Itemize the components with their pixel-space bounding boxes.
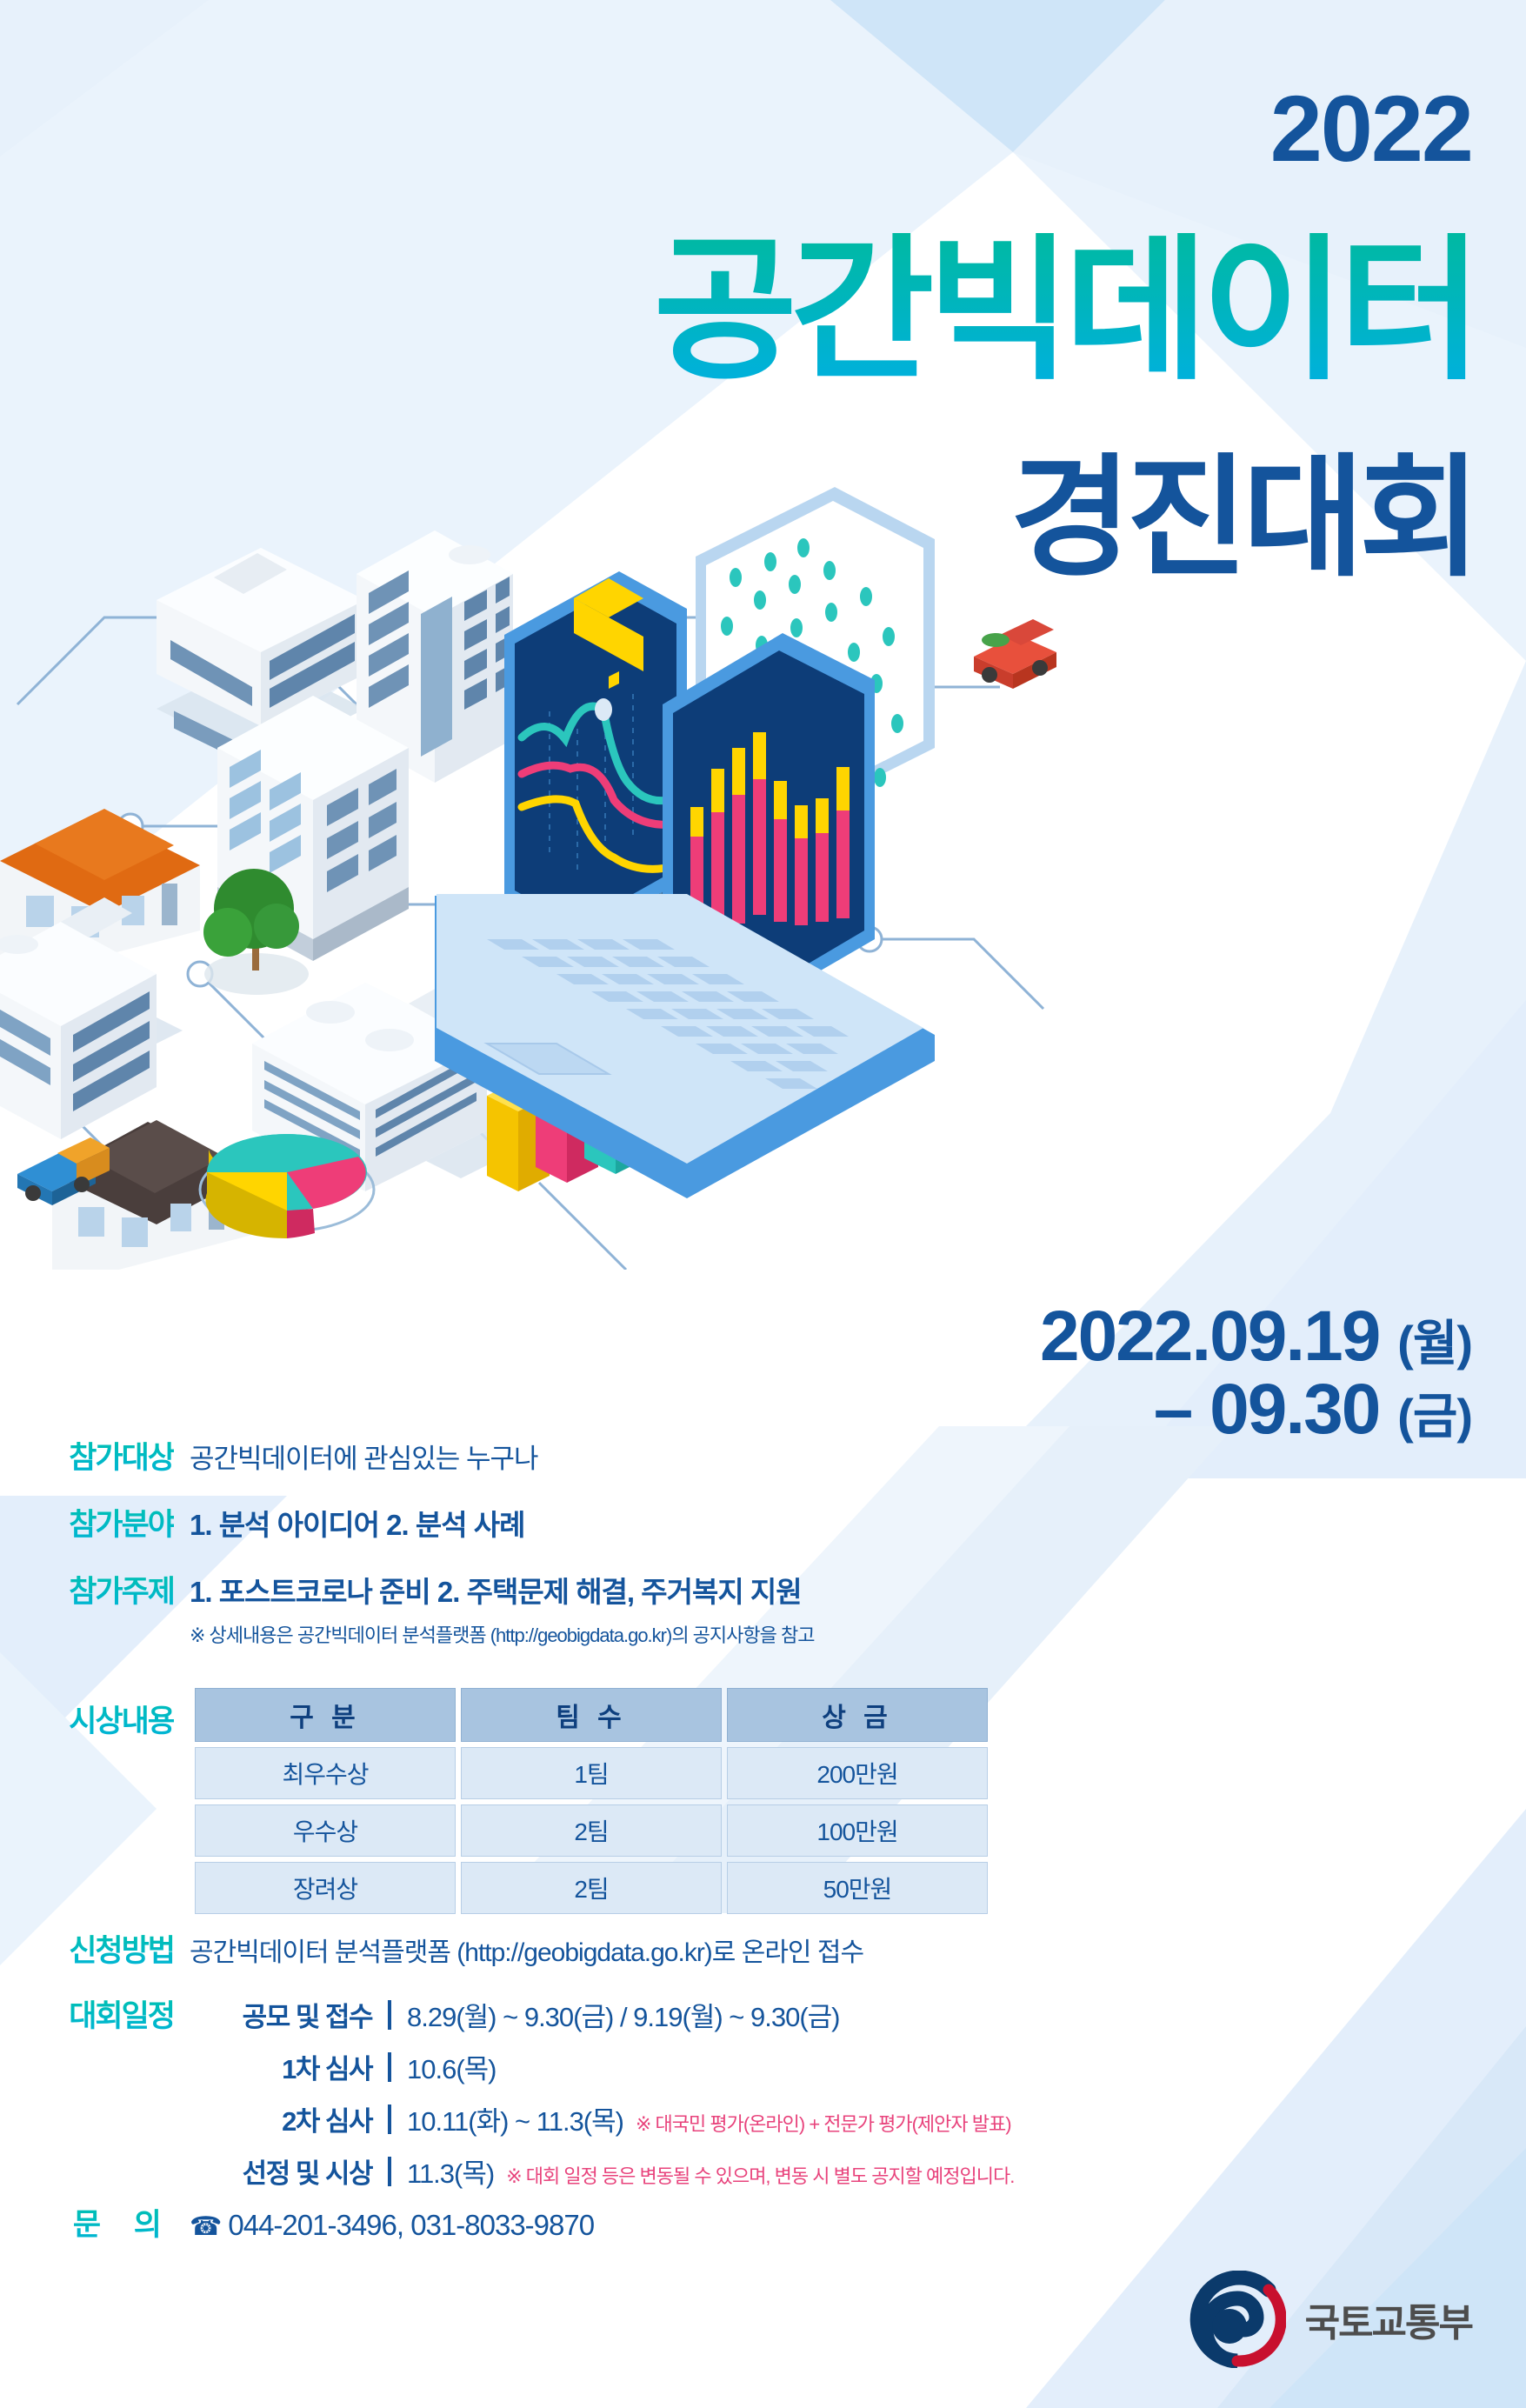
prize-table: 구 분 팀 수 상 금 최우수상 1팀 200만원 우수상 2팀 100만원 장… [190,1683,993,1919]
date-start-dow: (월) [1397,1316,1472,1371]
cell-category: 최우수상 [195,1747,456,1799]
label-apply-method: 신청방법 [0,1926,174,1971]
schedule-row: 1차 심사 10.6(목) [190,2047,1014,2086]
schedule-row: 2차 심사 10.11(화) ~ 11.3(목) ※ 대국민 평가(온라인) +… [190,2099,1014,2138]
value-participation-field: 1. 분석 아이디어 2. 분석 사례 [190,1502,525,1544]
schedule-header: 대회일정 공모 및 접수 8.29(월) ~ 9.30(금) / 9.19(월)… [0,1991,1526,2204]
label-schedule: 대회일정 [0,1991,174,2036]
contact-section: 문 의 ☎044-201-3496, 031-8033-9870 [0,2200,1526,2245]
value-apply-method: 공간빅데이터 분석플랫폼 (http://geobigdata.go.kr)로 … [190,1931,863,1969]
schedule-value: 10.6(목) [407,2047,496,2086]
poster-root: 2022 공간빅데이터 경진대회 [0,0,1526,2408]
event-date-start: 2022.09.19 (월) [1040,1300,1472,1373]
info-row-apply: 신청방법 공간빅데이터 분석플랫폼 (http://geobigdata.go.… [0,1926,1526,1971]
schedule-divider [388,2157,391,2186]
ministry-logo-block: 국토교통부 [1189,2271,1472,2368]
schedule-key: 2차 심사 [190,2099,372,2138]
column-header-amount: 상 금 [727,1688,988,1742]
illustration-svg [0,487,1078,1270]
label-contact: 문 의 [0,2200,174,2245]
participation-info: 참가대상 공간빅데이터에 관심있는 누구나 참가분야 1. 분석 아이디어 2.… [0,1433,1526,1667]
phone-icon: ☎ [190,2212,221,2241]
schedule-key: 공모 및 접수 [190,1995,372,2034]
value-participation-target: 공간빅데이터에 관심있는 누구나 [190,1437,538,1476]
taegeuk-swirl-icon [1189,2271,1286,2368]
value-participation-topic: 1. 포스트코로나 준비 2. 주택문제 해결, 주거복지 지원 [190,1569,802,1611]
year-heading: 2022 [1270,82,1472,176]
date-start-value: 2022.09.19 [1040,1297,1379,1376]
ministry-name: 국토교통부 [1305,2291,1472,2347]
label-participation-field: 참가분야 [0,1500,174,1544]
schedule-key: 선정 및 시상 [190,2151,372,2191]
cell-category: 장려상 [195,1862,456,1914]
info-row-field: 참가분야 1. 분석 아이디어 2. 분석 사례 [0,1500,1526,1544]
label-prize: 시상내용 [0,1683,174,1741]
contact-value-wrap: ☎044-201-3496, 031-8033-9870 [190,2209,594,2242]
smart-city-illustration [0,487,1078,1270]
cell-teams: 2팀 [461,1804,722,1857]
schedule-value: 8.29(월) ~ 9.30(금) / 9.19(월) ~ 9.30(금) [407,1995,840,2034]
table-row: 최우수상 1팀 200만원 [195,1747,988,1799]
cell-teams: 2팀 [461,1862,722,1914]
page-title: 공간빅데이터 [653,233,1476,390]
screen-line-chart [504,571,687,943]
schedule-note: ※ 대국민 평가(온라인) + 전문가 평가(제안자 발표) [636,2109,1011,2137]
event-date-block: 2022.09.19 (월) – 09.30 (금) [1040,1300,1472,1445]
apply-info: 신청방법 공간빅데이터 분석플랫폼 (http://geobigdata.go.… [0,1926,1526,1979]
schedule-divider [388,2000,391,2030]
info-row-topic: 참가주제 1. 포스트코로나 준비 2. 주택문제 해결, 주거복지 지원 [0,1567,1526,1611]
schedule-row: 공모 및 접수 8.29(월) ~ 9.30(금) / 9.19(월) ~ 9.… [190,1995,1014,2034]
schedule-divider [388,2104,391,2134]
cell-amount: 100만원 [727,1804,988,1857]
cell-amount: 50만원 [727,1862,988,1914]
table-row: 장려상 2팀 50만원 [195,1862,988,1914]
info-row-target: 참가대상 공간빅데이터에 관심있는 누구나 [0,1433,1526,1477]
label-participation-topic: 참가주제 [0,1567,174,1611]
topic-footnote: ※ 상세내용은 공간빅데이터 분석플랫폼 (http://geobigdata.… [190,1620,1526,1648]
schedule-section: 대회일정 공모 및 접수 8.29(월) ~ 9.30(금) / 9.19(월)… [0,1991,1526,2204]
schedule-value: 11.3(목) [407,2151,494,2191]
label-participation-target: 참가대상 [0,1433,174,1477]
schedule-row: 선정 및 시상 11.3(목) ※ 대회 일정 등은 변동될 수 있으며, 변동… [190,2151,1014,2191]
cell-teams: 1팀 [461,1747,722,1799]
schedule-note: ※ 대회 일정 등은 변동될 수 있으며, 변동 시 별도 공지할 예정입니다. [506,2161,1014,2189]
schedule-rows: 공모 및 접수 8.29(월) ~ 9.30(금) / 9.19(월) ~ 9.… [190,1995,1014,2204]
contact-phone-numbers: 044-201-3496, 031-8033-9870 [228,2209,594,2241]
prize-table-section: 시상내용 구 분 팀 수 상 금 최우수상 1팀 200만원 우수상 2팀 [0,1683,1526,1919]
cell-amount: 200만원 [727,1747,988,1799]
column-header-category: 구 분 [195,1688,456,1742]
pie-chart-3d [200,1134,374,1238]
page-subtitle: 경진대회 [1010,452,1476,584]
table-row: 우수상 2팀 100만원 [195,1804,988,1857]
schedule-key: 1차 심사 [190,2047,372,2086]
cell-category: 우수상 [195,1804,456,1857]
table-header-row: 구 분 팀 수 상 금 [195,1688,988,1742]
vehicle-red-truck [974,619,1056,689]
column-header-teams: 팀 수 [461,1688,722,1742]
schedule-value: 10.11(화) ~ 11.3(목) [407,2099,623,2138]
schedule-divider [388,2052,391,2082]
